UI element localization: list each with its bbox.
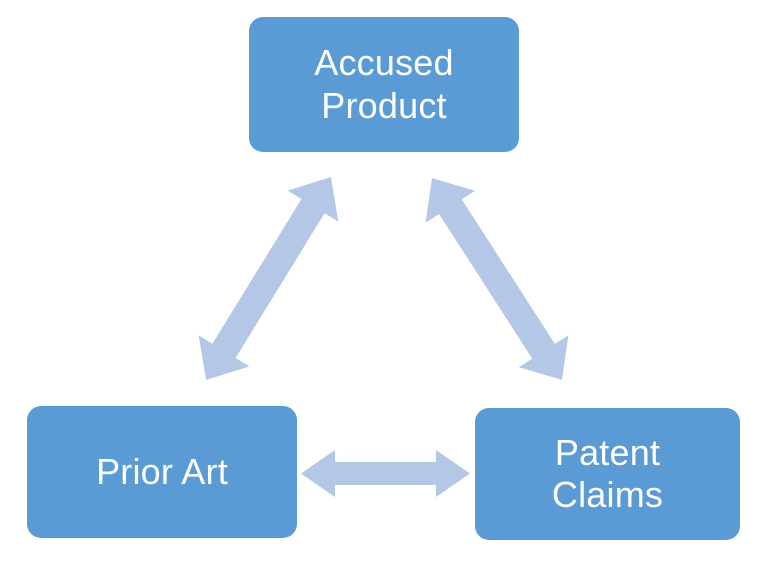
node-accused-product-label: Accused Product [304,42,463,127]
node-accused-product[interactable]: Accused Product [249,17,519,152]
node-prior-art[interactable]: Prior Art [27,406,297,538]
node-prior-art-label: Prior Art [86,451,238,493]
diagram-canvas: Accused Product Prior Art Patent Claims [0,0,759,564]
node-patent-claims-label: Patent Claims [542,432,673,517]
connector-prior-art-to-accused-product[interactable] [181,162,356,396]
node-patent-claims[interactable]: Patent Claims [475,408,740,540]
connector-accused-product-to-patent-claims[interactable] [407,162,587,396]
connector-prior-art-to-patent-claims[interactable] [301,450,470,497]
